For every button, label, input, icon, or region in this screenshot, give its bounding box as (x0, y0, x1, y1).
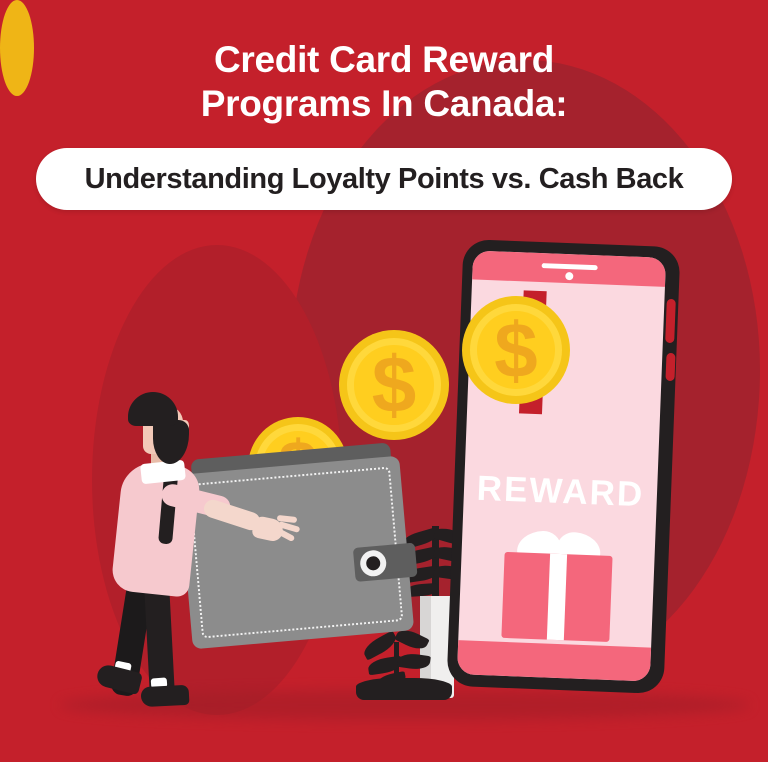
coin-mid-icon: $ (339, 330, 449, 440)
phone-volume-down-button[interactable] (665, 353, 675, 381)
phone-volume-up-button[interactable] (665, 299, 676, 343)
subtitle-banner: Understanding Loyalty Points vs. Cash Ba… (36, 148, 732, 210)
wallet-clasp (353, 543, 418, 582)
phone-speaker-slot (541, 263, 597, 270)
page-title: Credit Card Reward Programs In Canada: (0, 38, 768, 126)
phone-front-camera-icon (565, 272, 573, 280)
phone-status-bar (472, 250, 666, 286)
gift-ribbon (546, 554, 566, 641)
dollar-sign-icon: $ (462, 296, 570, 404)
subtitle-text: Understanding Loyalty Points vs. Cash Ba… (85, 163, 684, 196)
reward-headline: REWARD (463, 468, 657, 515)
title-line-1: Credit Card Reward (0, 38, 768, 82)
plant-soil (356, 678, 452, 700)
man-holding-wallet (95, 392, 285, 710)
bush-leaf (397, 652, 431, 671)
title-line-2: Programs In Canada: (0, 82, 768, 126)
coin-big-icon: $ (462, 296, 570, 404)
hair (128, 392, 178, 426)
dollar-sign-icon: $ (339, 330, 449, 440)
infographic-canvas: Credit Card Reward Programs In Canada: U… (0, 0, 768, 762)
beard (153, 420, 189, 464)
shoe-front (141, 685, 190, 707)
gift-box-icon (501, 530, 613, 642)
